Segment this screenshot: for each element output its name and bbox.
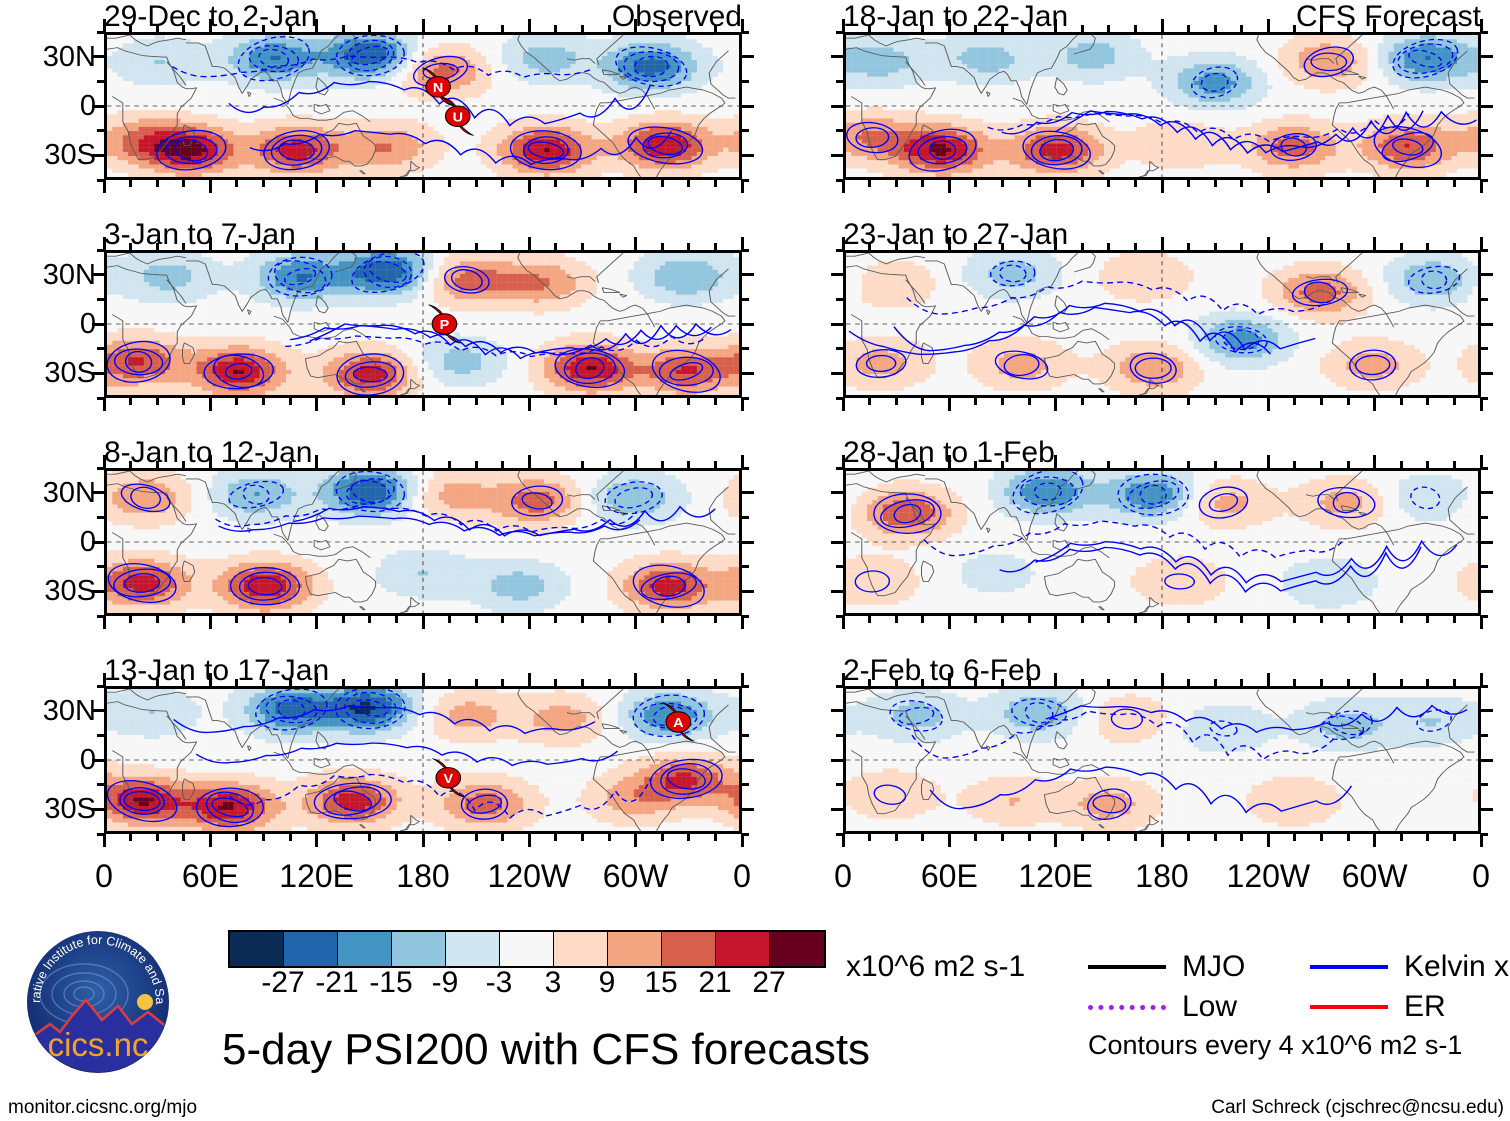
y-tick [92,808,104,811]
x-tick [448,679,451,686]
x-tick [528,673,531,686]
x-tick [974,398,977,405]
map-field-obs-3 [107,471,739,613]
x-tick [581,180,584,187]
x-tick [209,834,212,847]
x-tick [235,461,238,468]
x-tick [315,237,318,250]
x-tick [1001,398,1004,405]
x-tick [581,616,584,623]
map-panel-obs-3[interactable] [104,468,742,616]
x-tick [1134,679,1137,686]
x-tick [741,237,744,250]
x-tick [129,243,132,250]
x-tick [395,679,398,686]
x-tick [368,834,371,841]
footer-url[interactable]: monitor.cicsnc.org/mjo [8,1098,197,1117]
x-tick [501,398,504,405]
x-tick [129,679,132,686]
x-tick [741,673,744,686]
x-tick [1240,243,1243,250]
x-tick [741,398,744,411]
x-tick [948,180,951,193]
x-tick [1134,243,1137,250]
x-tick [103,616,106,629]
colorbar-tick-label: 21 [698,968,731,998]
x-tick [1161,455,1164,468]
y-tick [831,590,843,593]
y-tick [1481,347,1488,350]
x-tick [129,25,132,32]
logo-wordmark: cics.nc [48,1026,149,1063]
x-tick [368,25,371,32]
map-panel-fcst-1[interactable] [843,32,1481,180]
x-tick [1054,19,1057,32]
x-tick [1240,180,1243,187]
y-tick-label: 30N [4,43,96,72]
x-tick [395,398,398,405]
x-tick [156,461,159,468]
x-tick [368,679,371,686]
x-tick [554,243,557,250]
x-tick [448,834,451,841]
x-tick [921,398,924,405]
x-tick [1134,180,1137,187]
map-field-fcst-2 [846,253,1478,395]
x-tick [1373,398,1376,411]
map-panel-fcst-4[interactable] [843,686,1481,834]
x-tick [1320,398,1323,405]
footer-author: Carl Schreck (cjschrec@ncsu.edu) [1211,1098,1504,1117]
x-tick [1373,237,1376,250]
x-tick [1028,616,1031,623]
legend-line-swatch [1310,965,1388,969]
x-tick [714,398,717,405]
x-tick [1001,180,1004,187]
x-tick [1054,237,1057,250]
colorbar-tick-label: 9 [599,968,616,998]
x-tick [1001,616,1004,623]
legend-item-er[interactable]: ER [1310,992,1446,1022]
x-tick [1453,243,1456,250]
x-tick [528,455,531,468]
map-panel-obs-2[interactable]: P [104,250,742,398]
colorbar-tick-label: -9 [432,968,459,998]
x-tick [129,834,132,841]
x-tick [868,398,871,405]
y-tick [831,55,843,58]
x-tick [661,834,664,841]
y-tick [836,516,843,519]
colorbar-tick-label: -3 [486,968,513,998]
y-tick-label: 0 [4,92,96,121]
x-tick [1267,673,1270,686]
y-tick [97,298,104,301]
x-tick [1054,834,1057,847]
y-tick-label: 30S [4,141,96,170]
x-tick [714,180,717,187]
x-tick [948,616,951,629]
x-tick [868,461,871,468]
x-tick [1214,679,1217,686]
colorbar-swatch [554,932,608,966]
x-tick [842,398,845,411]
x-tick [948,19,951,32]
x-tick [182,679,185,686]
x-tick [262,25,265,32]
x-tick [1267,237,1270,250]
y-tick [742,347,749,350]
x-tick [1426,461,1429,468]
x-tick [974,679,977,686]
y-tick [1481,298,1488,301]
x-tick [608,243,611,250]
legend-label: Kelvin x2 [1404,952,1510,982]
x-tick [1320,616,1323,623]
x-tick [1453,25,1456,32]
y-tick [831,491,843,494]
x-tick [501,679,504,686]
y-tick [831,105,843,108]
x-tick [315,673,318,686]
x-tick [1081,398,1084,405]
x-tick [528,616,531,629]
x-tick [262,398,265,405]
x-tick [315,398,318,411]
x-tick [1240,834,1243,841]
colorbar-swatch [230,932,284,966]
x-tick [687,616,690,623]
y-tick [92,759,104,762]
x-tick [1480,616,1483,629]
legend-item-kelvin-x2[interactable]: Kelvin x2 [1310,952,1510,982]
x-tick [581,25,584,32]
x-tick [714,616,717,623]
x-tick [103,834,106,847]
x-tick [209,673,212,686]
y-tick [742,55,754,58]
y-tick [1481,541,1493,544]
x-tick [1240,25,1243,32]
y-tick [742,154,754,157]
x-tick [182,243,185,250]
y-tick [92,55,104,58]
colorbar-swatch [500,932,554,966]
x-tick [1214,461,1217,468]
x-tick [156,834,159,841]
x-tick [581,243,584,250]
x-tick [342,398,345,405]
x-tick [1240,461,1243,468]
x-tick [1054,180,1057,193]
map-field-fcst-3 [846,471,1478,613]
x-tick [842,673,845,686]
x-tick [103,19,106,32]
y-tick [836,783,843,786]
colorbar-tick-labels: -27-21-15-9-339152127 [228,968,826,1002]
x-tick [1400,616,1403,623]
colorbar-swatch [716,932,770,966]
y-tick [92,590,104,593]
x-tick [1028,834,1031,841]
map-panel-fcst-3[interactable] [843,468,1481,616]
x-tick [714,461,717,468]
y-tick [831,372,843,375]
x-tick [1214,398,1217,405]
x-tick [1107,616,1110,623]
x-tick [1480,398,1483,411]
x-tick [1373,834,1376,847]
x-tick [422,455,425,468]
x-tick [1426,679,1429,686]
x-tick [741,616,744,629]
x-tick [342,25,345,32]
y-tick [97,80,104,83]
x-tick [1107,25,1110,32]
x-tick [1161,673,1164,686]
x-tick [948,455,951,468]
x-tick [475,616,478,623]
x-tick [1400,25,1403,32]
x-tick [289,243,292,250]
x-tick [1400,461,1403,468]
y-tick [836,734,843,737]
y-tick [836,298,843,301]
y-tick [1481,590,1493,593]
x-tick [895,180,898,187]
x-tick [868,834,871,841]
y-tick [742,541,754,544]
x-tick [1293,834,1296,841]
x-tick [714,25,717,32]
x-tick [1001,243,1004,250]
x-tick [554,616,557,623]
x-tick [209,616,212,629]
y-tick-label: 0 [4,310,96,339]
y-tick [1481,154,1493,157]
x-tick [687,25,690,32]
x-tick [687,834,690,841]
x-tick [1480,455,1483,468]
x-tick [687,180,690,187]
x-tick [103,455,106,468]
map-field-obs-1: NU [107,35,739,177]
x-tick [289,180,292,187]
x-tick [1161,398,1164,411]
x-tick [1347,679,1350,686]
x-tick [156,180,159,187]
map-panel-obs-1[interactable]: NU [104,32,742,180]
y-tick [742,709,754,712]
y-tick [92,491,104,494]
colorbar-swatch [392,932,446,966]
x-tick [1187,834,1190,841]
y-tick [1481,783,1488,786]
x-tick [1347,398,1350,405]
x-tick [948,398,951,411]
x-tick [448,616,451,623]
x-tick [1320,25,1323,32]
x-tick [1426,25,1429,32]
x-tick [1214,243,1217,250]
cics-nc-logo: Cooperative Institute for Climate and Sa… [14,928,182,1080]
legend-item-mjo[interactable]: MJO [1088,952,1245,982]
x-tick [182,180,185,187]
x-tick [1187,679,1190,686]
x-tick [1081,25,1084,32]
y-tick-label: 30S [4,577,96,606]
y-tick [742,372,754,375]
y-tick [1481,55,1493,58]
x-tick [895,398,898,405]
x-tick [262,180,265,187]
y-tick [1481,372,1493,375]
x-tick [714,679,717,686]
y-tick [836,565,843,568]
x-tick [1187,461,1190,468]
x-tick [1107,461,1110,468]
colorbar-tick-label: -21 [315,968,358,998]
x-tick [1453,398,1456,405]
x-tick [868,243,871,250]
y-tick [742,273,754,276]
y-tick [831,154,843,157]
y-tick [742,129,749,132]
y-tick [742,734,749,737]
x-tick [422,673,425,686]
map-field-obs-2: P [107,253,739,395]
y-tick [97,734,104,737]
x-tick [475,180,478,187]
colorbar-tick-label: 27 [752,968,785,998]
map-panel-obs-4[interactable]: VA [104,686,742,834]
x-tick [182,461,185,468]
x-tick [501,25,504,32]
x-tick [1187,25,1190,32]
y-tick [1481,80,1488,83]
x-tick [1187,180,1190,187]
x-tick [1001,834,1004,841]
x-tick [608,180,611,187]
y-tick [831,759,843,762]
x-tick [501,180,504,187]
y-tick [97,516,104,519]
x-tick [1373,180,1376,193]
x-tick [661,461,664,468]
y-tick [831,273,843,276]
x-tick [1107,180,1110,187]
x-tick [1187,243,1190,250]
x-tick [1293,616,1296,623]
x-tick [741,180,744,193]
panel-title-obs-4: 13-Jan to 17-Jan [104,656,329,686]
x-tick [289,616,292,623]
x-tick [235,243,238,250]
x-tick [1107,834,1110,841]
x-tick [1107,679,1110,686]
x-tick [1081,616,1084,623]
legend-item-low[interactable]: Low [1088,992,1237,1022]
x-tick [1373,19,1376,32]
x-tick [554,679,557,686]
y-tick [1481,734,1488,737]
colorbar-tick-label: 3 [545,968,562,998]
x-tick [289,834,292,841]
x-tick [661,25,664,32]
x-tick [395,461,398,468]
x-tick [974,616,977,623]
x-tick [1426,834,1429,841]
y-tick [1481,323,1493,326]
x-tick [1400,180,1403,187]
x-tick [1267,616,1270,629]
x-tick [1187,398,1190,405]
y-tick-label: 0 [4,746,96,775]
x-tick [209,455,212,468]
y-tick-label: 30S [4,795,96,824]
x-tick [1320,461,1323,468]
x-tick [475,679,478,686]
y-tick [742,105,754,108]
x-tick [368,398,371,405]
y-tick [92,273,104,276]
x-tick [634,673,637,686]
x-tick [501,834,504,841]
x-tick [1214,180,1217,187]
panel-title-obs-2: 3-Jan to 7-Jan [104,220,296,250]
x-tick [1373,455,1376,468]
legend-line-swatch [1088,965,1166,969]
x-tick [1293,679,1296,686]
x-tick [156,25,159,32]
x-tick [741,834,744,847]
x-tick [289,398,292,405]
x-tick [129,180,132,187]
panel-title-fcst-2: 23-Jan to 27-Jan [843,220,1068,250]
x-tick [1134,461,1137,468]
y-tick [1481,491,1493,494]
x-tick [1373,616,1376,629]
x-tick [608,461,611,468]
x-tick [103,398,106,411]
x-tick [1001,461,1004,468]
x-tick [1001,679,1004,686]
x-tick [209,180,212,193]
x-tick [868,616,871,623]
x-tick [608,679,611,686]
x-tick [1161,19,1164,32]
x-tick [895,461,898,468]
x-tick [868,679,871,686]
x-tick [395,25,398,32]
x-tick [554,180,557,187]
x-tick [1293,398,1296,405]
x-tick [315,616,318,629]
x-tick [921,679,924,686]
x-tick [501,461,504,468]
x-tick [1320,679,1323,686]
y-tick [97,783,104,786]
x-tick [741,19,744,32]
x-tick [634,834,637,847]
x-tick [868,25,871,32]
x-tick [1347,616,1350,623]
map-panel-fcst-2[interactable] [843,250,1481,398]
x-tick [1267,834,1270,847]
x-tick [182,25,185,32]
x-tick [315,19,318,32]
x-tick [395,180,398,187]
